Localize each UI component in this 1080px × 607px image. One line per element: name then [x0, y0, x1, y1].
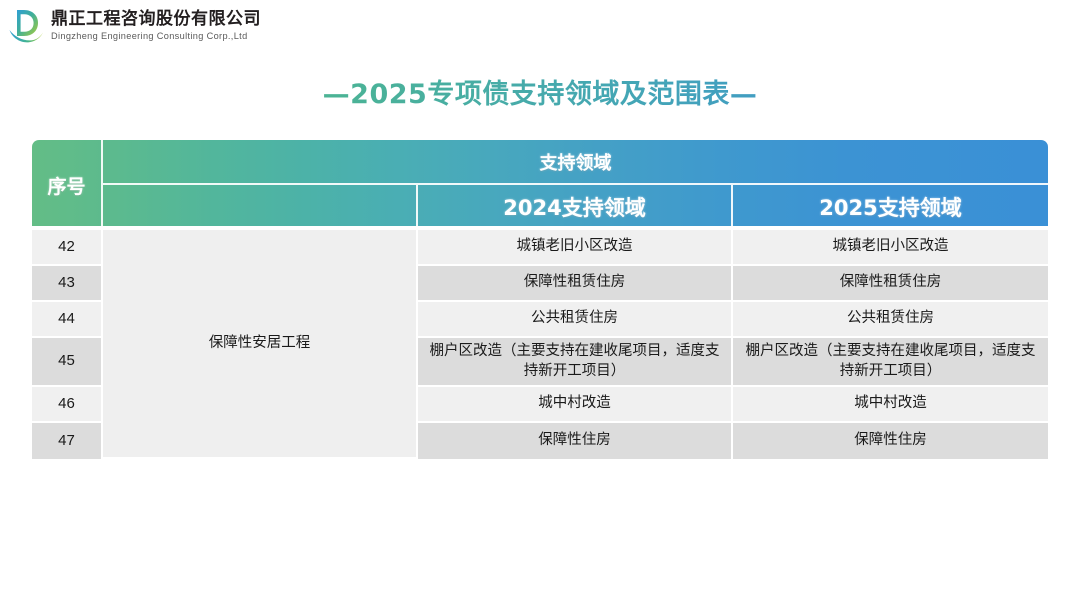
cell-seq: 42	[32, 230, 103, 266]
cell-seq: 43	[32, 266, 103, 302]
cell-seq: 44	[32, 302, 103, 338]
dingzheng-d-swoosh-logo-icon	[8, 6, 44, 46]
table-row: 42保障性安居工程城镇老旧小区改造城镇老旧小区改造	[32, 230, 1048, 266]
table-header-row-sub: 2024支持领域 2025支持领域	[32, 185, 1048, 230]
cell-seq: 45	[32, 338, 103, 387]
header-cell-2025: 2025支持领域	[733, 185, 1048, 230]
brand-name-en: Dingzheng Engineering Consulting Corp.,L…	[51, 32, 261, 41]
support-scope-table: 序号 支持领域 2024支持领域 2025支持领域 42保障性安居工程城镇老旧小…	[32, 140, 1048, 459]
cell-seq: 47	[32, 423, 103, 459]
brand-name-cn: 鼎正工程咨询股份有限公司	[51, 11, 261, 28]
header-cell-group-support-scope: 支持领域	[103, 140, 1048, 185]
support-scope-table-wrapper: 序号 支持领域 2024支持领域 2025支持领域 42保障性安居工程城镇老旧小…	[32, 140, 1048, 459]
table-body: 42保障性安居工程城镇老旧小区改造城镇老旧小区改造43保障性租赁住房保障性租赁住…	[32, 230, 1048, 459]
cell-field-2024: 城镇老旧小区改造	[418, 230, 733, 266]
cell-field-2024: 公共租赁住房	[418, 302, 733, 338]
cell-field-2024: 城中村改造	[418, 387, 733, 423]
table-header: 序号 支持领域 2024支持领域 2025支持领域	[32, 140, 1048, 230]
cell-field-2025: 城镇老旧小区改造	[733, 230, 1048, 266]
cell-field-2024: 保障性住房	[418, 423, 733, 459]
header-cell-category-blank	[103, 185, 418, 230]
cell-field-2025: 保障性租赁住房	[733, 266, 1048, 302]
cell-field-2024: 保障性租赁住房	[418, 266, 733, 302]
cell-field-2024: 棚户区改造（主要支持在建收尾项目，适度支持新开工项目）	[418, 338, 733, 387]
page-title: —2025专项债支持领域及范围表—	[0, 72, 1080, 111]
cell-seq: 46	[32, 387, 103, 423]
cell-field-2025: 公共租赁住房	[733, 302, 1048, 338]
cell-field-2025: 棚户区改造（主要支持在建收尾项目，适度支持新开工项目）	[733, 338, 1048, 387]
header-cell-seq: 序号	[32, 140, 103, 230]
cell-field-2025: 城中村改造	[733, 387, 1048, 423]
brand-header: 鼎正工程咨询股份有限公司 Dingzheng Engineering Consu…	[8, 4, 261, 48]
table-header-row-group: 序号 支持领域	[32, 140, 1048, 185]
cell-field-2025: 保障性住房	[733, 423, 1048, 459]
header-cell-2024: 2024支持领域	[418, 185, 733, 230]
cell-category: 保障性安居工程	[103, 230, 418, 459]
